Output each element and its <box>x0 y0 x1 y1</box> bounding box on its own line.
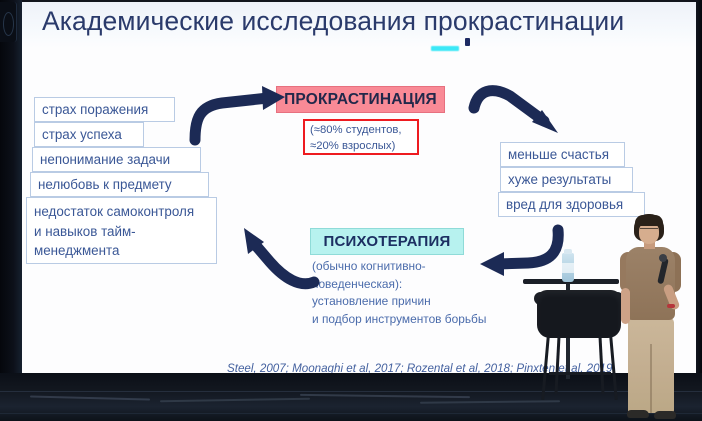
arrow-consequences-to-therapy-icon <box>462 216 574 280</box>
cause-label-line-3: менеджмента <box>34 241 209 261</box>
stage-cable <box>300 394 470 398</box>
cause-label: страх поражения <box>42 102 148 117</box>
speaker-cone-icon <box>3 12 14 36</box>
floor-reflection-line <box>0 413 702 414</box>
arrow-therapy-to-causes-icon <box>226 224 338 296</box>
cause-label-line-1: недостаток самоконтроля <box>34 202 209 222</box>
cause-box-3: непонимание задачи <box>32 147 201 172</box>
cause-box-4: нелюбовь к предмету <box>30 172 209 197</box>
cause-label: страх успеха <box>42 127 122 142</box>
cause-label: нелюбовь к предмету <box>38 177 172 192</box>
consequence-label: хуже результаты <box>508 172 611 187</box>
cause-box-5: недостаток самоконтроля и навыков тайм- … <box>26 197 217 264</box>
stage-right-shadow <box>696 0 702 421</box>
underline-accent-icon <box>431 46 459 51</box>
accent-dot-icon <box>465 38 470 46</box>
arrow-causes-to-procrastination-icon <box>182 84 292 146</box>
stage-cable <box>420 400 560 403</box>
floor-edge-line <box>0 391 702 392</box>
stage-cable <box>30 395 150 400</box>
cause-box-1: страх поражения <box>34 97 175 122</box>
conference-stage-photo: Академические исследования прокрастинаци… <box>0 0 702 421</box>
arrow-procrastination-to-consequences-icon <box>466 80 572 146</box>
consequence-label: меньше счастья <box>508 147 609 162</box>
cause-label-line-2: и навыков тайм- <box>34 222 209 242</box>
statistic-line-1: (≈80% студентов, <box>310 122 413 138</box>
statistic-line-2: ≈20% взрослых) <box>310 138 413 154</box>
central-concept-box: ПРОКРАСТИНАЦИЯ <box>276 86 445 113</box>
solution-note-line-4: и подбор инструментов борьбы <box>312 311 562 329</box>
consequence-label: вред для здоровья <box>506 197 623 212</box>
consequence-box-3: вред для здоровья <box>498 192 645 217</box>
central-concept-label: ПРОКРАСТИНАЦИЯ <box>284 91 437 109</box>
stage-cable <box>160 398 310 403</box>
consequence-box-2: хуже результаты <box>500 167 633 192</box>
stage-left-shadow <box>0 0 22 421</box>
stage-floor <box>0 373 702 421</box>
solution-concept-label: ПСИХОТЕРАПИЯ <box>324 233 451 250</box>
solution-note-line-3: установление причин <box>312 293 562 311</box>
projected-slide: Академические исследования прокрастинаци… <box>22 2 696 374</box>
cause-label: непонимание задачи <box>40 152 170 167</box>
slide-title: Академические исследования прокрастинаци… <box>42 6 624 37</box>
pa-speaker-icon <box>0 2 17 42</box>
cause-box-2: страх успеха <box>34 122 144 147</box>
statistic-callout-box: (≈80% студентов, ≈20% взрослых) <box>303 119 419 155</box>
